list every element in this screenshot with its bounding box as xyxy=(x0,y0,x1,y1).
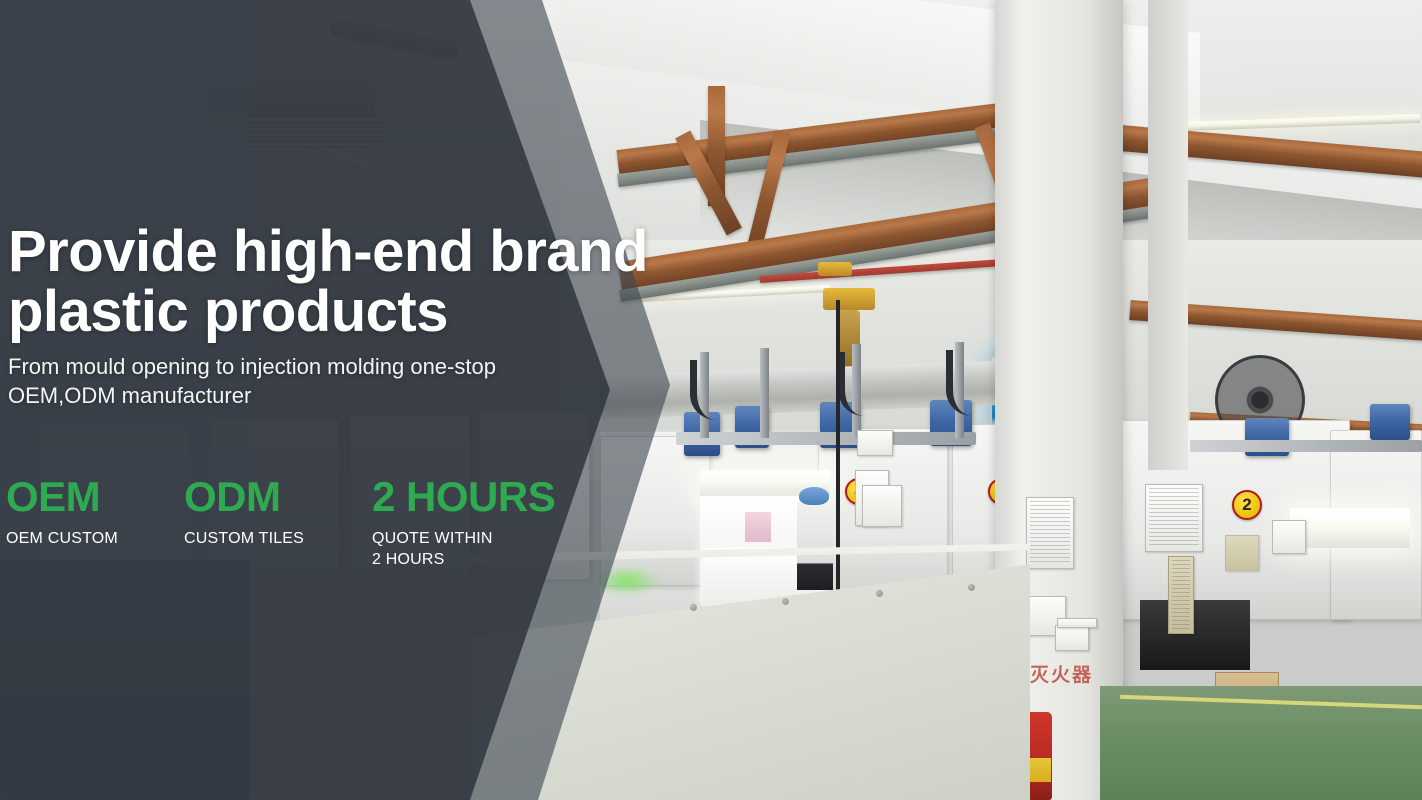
machine-lamp xyxy=(1290,508,1410,548)
machine-document xyxy=(862,485,902,527)
stat-value: 2 HOURS xyxy=(372,476,612,518)
document-placard xyxy=(1225,535,1259,571)
machine-document xyxy=(857,430,893,456)
stats-row: OEM OEM CUSTOM ODM CUSTOM TILES 2 HOURS … xyxy=(6,476,612,570)
placard-text-lines xyxy=(1030,501,1070,565)
tote-bin xyxy=(745,512,771,542)
safety-placard xyxy=(1145,484,1203,552)
robot-gantry xyxy=(676,432,976,445)
stat-item-odm: ODM CUSTOM TILES xyxy=(184,476,372,570)
machine-badge-2: 2 xyxy=(1232,490,1262,520)
document-placard xyxy=(1026,497,1074,569)
worker xyxy=(797,500,833,590)
stat-value: ODM xyxy=(184,476,372,518)
placard-text-lines xyxy=(1149,488,1199,548)
machine-bolt xyxy=(876,590,883,597)
drop-cable xyxy=(836,300,840,600)
stat-item-2-hours: 2 HOURS QUOTE WITHIN 2 HOURS xyxy=(372,476,612,570)
notice-placard xyxy=(1168,556,1194,634)
stat-label: OEM CUSTOM xyxy=(6,528,184,549)
machine-base-shadow xyxy=(1140,600,1250,670)
wall-document xyxy=(1057,618,1097,628)
stat-label: CUSTOM TILES xyxy=(184,528,372,549)
placard-text-lines xyxy=(1172,560,1190,630)
document-placard xyxy=(1055,625,1089,651)
page-subtitle: From mould opening to injection molding … xyxy=(8,352,608,411)
stat-label: QUOTE WITHIN 2 HOURS xyxy=(372,528,612,570)
secondary-pillar xyxy=(1148,0,1188,470)
banner-content: Provide high-end brand plastic products … xyxy=(0,0,700,800)
trolley xyxy=(818,262,852,276)
fire-sign-text: 灭火器 xyxy=(1030,660,1093,687)
stat-value: OEM xyxy=(6,476,184,518)
robot-arm-unit xyxy=(1370,404,1410,440)
document-placard xyxy=(1272,520,1306,554)
machine-bolt xyxy=(782,598,789,605)
robot-gantry xyxy=(1190,440,1422,452)
worker-cap xyxy=(799,487,829,505)
hero-banner: 4 3 2 灭火器 xyxy=(0,0,1422,800)
page-title: Provide high-end brand plastic products xyxy=(8,222,648,343)
chain-hoist xyxy=(823,288,875,310)
stat-item-oem: OEM OEM CUSTOM xyxy=(6,476,184,570)
machine-bolt xyxy=(968,584,975,591)
robot-post xyxy=(760,348,769,438)
